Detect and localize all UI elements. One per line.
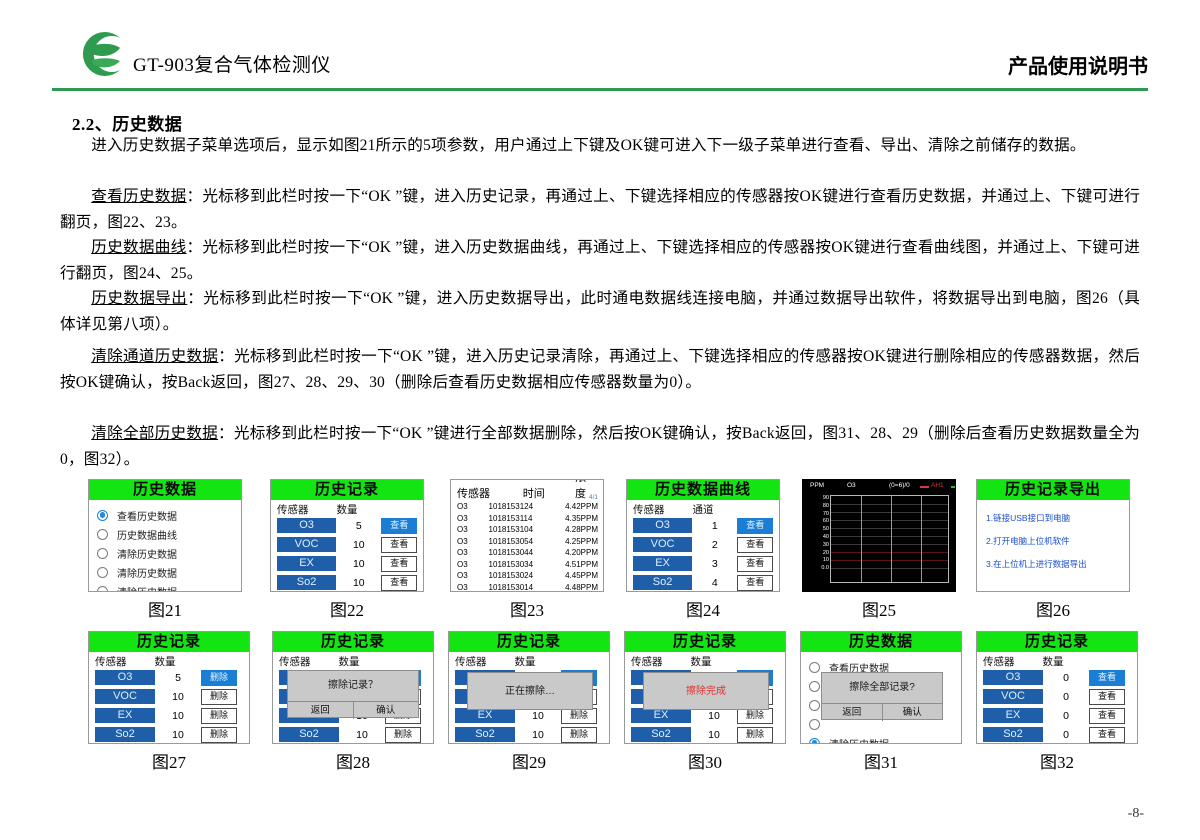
confirm-button[interactable]: 确认 (353, 702, 419, 719)
column-header-sensor: 传感器 (277, 502, 325, 517)
page-indicator: 4/1 (589, 494, 598, 501)
log-sensor: O3 (457, 560, 489, 569)
log-row: O310181530144.48PPM (457, 582, 598, 593)
chart-y-axis: 90 80 70 60 50 40 30 20 10 0.0 (807, 495, 829, 573)
sensor-channel-table: 传感器 通道 O3 1 查看 VOC 2 查看 EX 3 查看 (627, 500, 779, 591)
column-header-sensor: 传感器 (95, 654, 143, 669)
menu-item-label: 查看历史数据 (117, 508, 177, 523)
log-sensor: O3 (457, 502, 489, 511)
menu-item-clear-3[interactable]: 清除历史数据 (809, 734, 961, 744)
device-screen-history-curve: 历史数据曲线 传感器 通道 O3 1 查看 VOC 2 查看 EX (626, 479, 780, 592)
sensor-channel: 4 (692, 577, 737, 589)
log-conc: 4.20PPM (555, 548, 598, 557)
log-time: 1018153104 (489, 525, 556, 534)
dialog-message: 擦除全部记录? (822, 673, 942, 703)
column-header-sensor: 传感器 (457, 485, 503, 501)
sensor-name: EX (633, 556, 692, 571)
column-header-sensor: 传感器 (631, 654, 679, 669)
sensor-name: VOC (983, 689, 1043, 704)
device-screen-history-data: 历史数据 查看历史数据 历史数据曲线 清除历史数据 清除历史数据 (88, 479, 242, 592)
figure-21: 历史数据 查看历史数据 历史数据曲线 清除历史数据 清除历史数据 (88, 479, 242, 621)
device-screen-erase-done: 历史记录 传感器 数量 O35删除 VOC10删除 EX10删除 So210删除… (624, 631, 786, 744)
sensor-name: VOC (633, 537, 692, 552)
y-tick: 30 (807, 542, 829, 550)
paragraph-intro: 进入历史数据子菜单选项后，显示如图21所示的5项参数，用户通过上下键及OK键可进… (60, 133, 1140, 159)
export-steps: 1.链接USB接口到电脑 2.打开电脑上位机软件 3.在上位机上进行数据导出 (977, 500, 1129, 570)
delete-button[interactable]: 删除 (385, 727, 421, 743)
radio-icon[interactable] (97, 586, 108, 593)
view-button[interactable]: 查看 (381, 575, 417, 591)
device-screen-history-record: 历史记录 传感器 数量 O3 5 查看 VOC 10 查看 EX (270, 479, 424, 592)
figure-caption: 图23 (450, 596, 604, 621)
view-button[interactable]: 查看 (1089, 708, 1125, 724)
table-row[interactable]: VOC 2 查看 (633, 536, 773, 553)
screen-title: 历史记录 (977, 632, 1137, 652)
column-header-qty: 数量 (503, 654, 547, 669)
table-row[interactable]: O30查看 (983, 669, 1131, 686)
sensor-name: VOC (277, 537, 336, 552)
log-conc: 4.45PPM (555, 571, 598, 580)
menu-item-clear-2[interactable]: 清除历史数据 (97, 563, 241, 581)
sensor-name: VOC (95, 689, 155, 704)
table-header: 传感器 数量 (631, 654, 779, 669)
export-step: 1.链接USB接口到电脑 (986, 512, 1120, 524)
table-row[interactable]: VOC 10 删除 (95, 688, 243, 705)
chart-plot-area (830, 495, 949, 583)
y-tick: 20 (807, 550, 829, 558)
screen-title: 历史记录 (89, 632, 249, 652)
device-screen-export: 历史记录导出 1.链接USB接口到电脑 2.打开电脑上位机软件 3.在上位机上进… (976, 479, 1130, 592)
figure-caption: 图25 (802, 596, 956, 621)
paragraph-view-history: 查看历史数据：光标移到此栏时按一下“OK ”键，进入历史记录，再通过上、下键选择… (60, 184, 1140, 235)
brand-title: GT-903复合气体检测仪 (133, 50, 331, 77)
table-row[interactable]: So210删除 (279, 726, 427, 743)
column-header-sensor: 传感器 (633, 502, 681, 517)
log-time: 1018153014 (489, 583, 556, 592)
sensor-qty: 0 (1043, 672, 1089, 684)
log-sensor: O3 (457, 514, 489, 523)
menu-item-label: 历史数据曲线 (117, 527, 177, 542)
leaf-c-logo-icon (72, 30, 124, 78)
radio-icon[interactable] (97, 567, 108, 578)
sensor-name: O3 (95, 670, 155, 685)
figure-caption: 图22 (270, 596, 424, 621)
sensor-qty: 10 (336, 558, 381, 570)
menu-item-label: 清除历史数据 (117, 546, 177, 561)
radio-icon[interactable] (809, 738, 820, 745)
sensor-name: O3 (633, 518, 692, 533)
log-time: 1018153124 (489, 502, 556, 511)
figure-29: 历史记录 传感器 数量 O35删除 VOC10删除 EX10删除 So210删除… (448, 631, 610, 773)
screen-title: 历史记录导出 (977, 480, 1129, 500)
screen-title: 历史记录 (625, 632, 785, 652)
column-header-qty: 数量 (325, 502, 369, 517)
column-header-qty: 数量 (1031, 654, 1075, 669)
view-button[interactable]: 查看 (381, 556, 417, 572)
figure-25: PPM O3 (0=6)/0 AH1 AH2 90 80 70 60 50 40… (802, 479, 956, 621)
chart-range-label: (0=6)/0 (889, 482, 910, 489)
figure-31: 历史数据 查看历史数据 (800, 631, 962, 773)
page-number: -8- (1128, 806, 1144, 822)
table-row[interactable]: O3 5 删除 (95, 669, 243, 686)
dialog-message: 擦除完成 (644, 673, 768, 711)
log-header: 传感器 时间 浓度 4/1 (457, 484, 598, 501)
radio-icon[interactable] (97, 510, 108, 521)
table-row[interactable]: So20查看 (983, 726, 1131, 743)
sensor-qty: 10 (691, 710, 737, 722)
log-row: O310181530244.45PPM (457, 570, 598, 582)
chart-unit-label: PPM (810, 482, 824, 489)
menu-item-label: 清除历史数据 (829, 736, 889, 745)
sensor-qty: 10 (155, 710, 201, 722)
sensor-table: 传感器 数量 O30查看 VOC0查看 EX0查看 So20查看 (977, 652, 1137, 743)
figure-30: 历史记录 传感器 数量 O35删除 VOC10删除 EX10删除 So210删除… (624, 631, 786, 773)
sensor-qty: 10 (336, 539, 381, 551)
sensor-qty: 0 (1043, 691, 1089, 703)
y-tick: 90 (807, 495, 829, 503)
table-row[interactable]: So210删除 (455, 726, 603, 743)
log-row: O310181531244.42PPM (457, 501, 598, 513)
log-time: 1018153114 (489, 514, 556, 523)
sensor-name: So2 (279, 727, 339, 742)
radio-icon[interactable] (97, 548, 108, 559)
delete-button[interactable]: 删除 (201, 727, 237, 743)
log-sensor: O3 (457, 537, 489, 546)
sensor-channel: 2 (692, 539, 737, 551)
sensor-qty: 10 (515, 710, 561, 722)
figure-caption: 图27 (88, 748, 250, 773)
page-header: GT-903复合气体检测仪 产品使用说明书 (0, 0, 1200, 92)
paragraph-history-export: 历史数据导出：光标移到此栏时按一下“OK ”键，进入历史数据导出，此时通电数据线… (60, 286, 1140, 337)
sensor-qty: 5 (155, 672, 201, 684)
export-step: 3.在上位机上进行数据导出 (986, 558, 1120, 570)
y-tick: 60 (807, 518, 829, 526)
column-header-qty: 数量 (327, 654, 371, 669)
view-button[interactable]: 查看 (381, 518, 417, 534)
figure-24: 历史数据曲线 传感器 通道 O3 1 查看 VOC 2 查看 EX (626, 479, 780, 621)
screen-title: 历史记录 (273, 632, 433, 652)
table-row[interactable]: O3 5 查看 (277, 517, 417, 534)
delete-button[interactable]: 删除 (737, 727, 773, 743)
sensor-table: 传感器 数量 O3 5 删除 VOC 10 删除 EX 10 删除 (89, 652, 249, 743)
erasing-progress-dialog: 正在擦除… (467, 672, 593, 710)
back-button[interactable]: 返回 (288, 702, 353, 719)
table-row[interactable]: EX 3 查看 (633, 555, 773, 572)
header-divider (52, 88, 1148, 91)
view-button[interactable]: 查看 (737, 537, 773, 553)
device-screen-clear-all-confirm: 历史数据 查看历史数据 (800, 631, 962, 744)
radio-icon[interactable] (809, 719, 820, 730)
sensor-name: O3 (277, 518, 336, 533)
log-sensor: O3 (457, 583, 489, 592)
log-conc: 4.42PPM (555, 502, 598, 511)
sensor-name: EX (277, 556, 336, 571)
table-header: 传感器 数量 (983, 654, 1131, 669)
confirm-button[interactable]: 确认 (882, 704, 943, 721)
log-time: 1018153024 (489, 571, 556, 580)
log-conc: 4.25PPM (555, 537, 598, 546)
table-row[interactable]: So210删除 (631, 726, 779, 743)
manual-page: GT-903复合气体检测仪 产品使用说明书 2.2、历史数据 进入历史数据子菜单… (0, 0, 1200, 840)
log-sensor: O3 (457, 571, 489, 580)
table-header: 传感器 数量 (279, 654, 427, 669)
chart-header: PPM O3 (0=6)/0 AH1 AH2 (803, 482, 955, 493)
paragraph-history-curve: 历史数据曲线：光标移到此栏时按一下“OK ”键，进入历史数据曲线，再通过上、下键… (60, 235, 1140, 286)
radio-icon[interactable] (809, 662, 820, 673)
erase-complete-dialog: 擦除完成 (643, 672, 769, 710)
figure-32: 历史记录 传感器 数量 O30查看 VOC0查看 EX0查看 So20查看 图3… (976, 631, 1138, 773)
log-conc: 4.35PPM (555, 514, 598, 523)
figure-caption: 图29 (448, 748, 610, 773)
log-conc: 4.51PPM (555, 560, 598, 569)
log-row: O310181530544.25PPM (457, 536, 598, 548)
view-button[interactable]: 查看 (381, 537, 417, 553)
y-tick: 80 (807, 503, 829, 511)
record-log: 传感器 时间 浓度 4/1 O310181531244.42PPM O31018… (451, 480, 603, 592)
table-header: 传感器 数量 (277, 502, 417, 517)
menu-item-clear-3[interactable]: 清除历史数据 (97, 582, 241, 592)
log-time: 1018153044 (489, 548, 556, 557)
sensor-qty: 10 (155, 691, 201, 703)
sensor-name: So2 (277, 575, 336, 590)
table-row[interactable]: EX 10 查看 (277, 555, 417, 572)
column-header-sensor: 传感器 (279, 654, 327, 669)
y-tick: 10 (807, 557, 829, 565)
log-row: O310181531044.28PPM (457, 524, 598, 536)
menu-item-history-curve[interactable]: 历史数据曲线 (97, 525, 241, 543)
dialog-message: 正在擦除… (468, 673, 592, 711)
delete-button[interactable]: 删除 (561, 727, 597, 743)
table-row[interactable]: EX0查看 (983, 707, 1131, 724)
radio-icon[interactable] (809, 681, 820, 692)
dialog-buttons: 返回 确认 (822, 703, 942, 721)
table-row[interactable]: So2 10 查看 (277, 574, 417, 591)
log-row: O310181530344.51PPM (457, 559, 598, 571)
table-row[interactable]: VOC 10 查看 (277, 536, 417, 553)
table-header: 传感器 数量 (455, 654, 603, 669)
screen-title: 历史记录 (271, 480, 423, 500)
column-header-concentration: 浓度 (565, 479, 586, 501)
y-tick: 70 (807, 511, 829, 519)
figure-caption: 图30 (624, 748, 786, 773)
sensor-name: EX (95, 708, 155, 723)
view-button[interactable]: 查看 (737, 556, 773, 572)
menu-item-clear-1[interactable]: 清除历史数据 (97, 544, 241, 562)
back-button[interactable]: 返回 (822, 704, 882, 721)
figure-23: 传感器 时间 浓度 4/1 O310181531244.42PPM O31018… (450, 479, 604, 621)
paragraph-clear-channel: 清除通道历史数据：光标移到此栏时按一下“OK ”键，进入历史记录清除，再通过上、… (60, 344, 1140, 395)
chart-gas-label: O3 (847, 482, 856, 489)
log-time: 1018153034 (489, 560, 556, 569)
view-button[interactable]: 查看 (737, 518, 773, 534)
device-screen-record-list: 传感器 时间 浓度 4/1 O310181531244.42PPM O31018… (450, 479, 604, 592)
device-screen-erase-confirm: 历史记录 传感器 数量 O35删除 VOC10删除 EX10删除 So210删除… (272, 631, 434, 744)
screen-title: 历史数据曲线 (627, 480, 779, 500)
column-header-qty: 数量 (679, 654, 723, 669)
column-header-qty: 数量 (143, 654, 187, 669)
sensor-qty: 10 (691, 729, 737, 741)
view-button[interactable]: 查看 (1089, 689, 1125, 705)
sensor-qty: 5 (336, 520, 381, 532)
radio-icon[interactable] (809, 700, 820, 711)
column-header-sensor: 传感器 (455, 654, 503, 669)
figure-22: 历史记录 传感器 数量 O3 5 查看 VOC 10 查看 EX (270, 479, 424, 621)
table-row[interactable]: EX 10 删除 (95, 707, 243, 724)
figure-27: 历史记录 传感器 数量 O3 5 删除 VOC 10 删除 EX (88, 631, 250, 773)
device-screen-delete-list: 历史记录 传感器 数量 O3 5 删除 VOC 10 删除 EX (88, 631, 250, 744)
figure-caption: 图24 (626, 596, 780, 621)
section-title: 2.2、历史数据 (72, 110, 182, 135)
menu-item-label: 清除历史数据 (117, 584, 177, 593)
sensor-name: O3 (983, 670, 1043, 685)
y-tick: 40 (807, 534, 829, 542)
sensor-name: So2 (633, 575, 692, 590)
y-tick: 50 (807, 526, 829, 534)
sensor-channel: 1 (692, 520, 737, 532)
delete-button[interactable]: 删除 (201, 670, 237, 686)
figure-caption: 图32 (976, 748, 1138, 773)
sensor-table: 传感器 数量 O3 5 查看 VOC 10 查看 EX 10 查看 (271, 500, 423, 591)
figure-caption: 图28 (272, 748, 434, 773)
view-button[interactable]: 查看 (737, 575, 773, 591)
radio-icon[interactable] (97, 529, 108, 540)
log-row: O310181530444.20PPM (457, 547, 598, 559)
log-time: 1018153054 (489, 537, 556, 546)
screen-title: 历史记录 (449, 632, 609, 652)
log-row: O310181531144.35PPM (457, 513, 598, 525)
history-menu-list: 查看历史数据 历史数据曲线 清除历史数据 清除历史数据 清除历史数据 (89, 500, 241, 592)
delete-button[interactable]: 删除 (201, 708, 237, 724)
legend-ah1: AH1 (931, 482, 944, 489)
sensor-qty: 10 (515, 729, 561, 741)
column-header-sensor: 传感器 (983, 654, 1031, 669)
menu-item-view-history[interactable]: 查看历史数据 (97, 506, 241, 524)
table-header: 传感器 通道 (633, 502, 773, 517)
sensor-qty: 10 (336, 577, 381, 589)
device-screen-history-cleared: 历史记录 传感器 数量 O30查看 VOC0查看 EX0查看 So20查看 (976, 631, 1138, 744)
erase-confirm-dialog: 擦除记录？ 返回 确认 (287, 670, 419, 718)
figure-caption: 图21 (88, 596, 242, 621)
sensor-name: So2 (983, 727, 1043, 742)
sensor-qty: 10 (155, 729, 201, 741)
device-screen-erasing: 历史记录 传感器 数量 O35删除 VOC10删除 EX10删除 So210删除… (448, 631, 610, 744)
sensor-qty: 0 (1043, 710, 1089, 722)
table-row[interactable]: So2 10 删除 (95, 726, 243, 743)
figure-caption: 图26 (976, 596, 1130, 621)
sensor-name: So2 (95, 727, 155, 742)
screen-title: 历史数据 (89, 480, 241, 500)
clear-all-confirm-dialog: 擦除全部记录? 返回 确认 (821, 672, 943, 720)
sensor-name: So2 (631, 727, 691, 742)
log-sensor: O3 (457, 548, 489, 557)
view-button[interactable]: 查看 (1089, 727, 1125, 743)
figure-26: 历史记录导出 1.链接USB接口到电脑 2.打开电脑上位机软件 3.在上位机上进… (976, 479, 1130, 621)
table-row[interactable]: So2 4 查看 (633, 574, 773, 591)
dialog-buttons: 返回 确认 (288, 701, 418, 719)
sensor-channel: 3 (692, 558, 737, 570)
log-conc: 4.48PPM (555, 583, 598, 592)
menu-item-label: 清除历史数据 (117, 565, 177, 580)
header-doc-title: 产品使用说明书 (1008, 50, 1148, 79)
figure-caption: 图31 (800, 748, 962, 773)
dialog-message: 擦除记录？ (288, 671, 418, 701)
export-step: 2.打开电脑上位机软件 (986, 535, 1120, 547)
log-sensor: O3 (457, 525, 489, 534)
view-button[interactable]: 查看 (1089, 670, 1125, 686)
screen-title: 历史数据 (801, 632, 961, 652)
sensor-qty: 10 (339, 729, 385, 741)
sensor-name: EX (983, 708, 1043, 723)
table-header: 传感器 数量 (95, 654, 243, 669)
device-screen-curve-chart: PPM O3 (0=6)/0 AH1 AH2 90 80 70 60 50 40… (802, 479, 956, 592)
sensor-name: So2 (455, 727, 515, 742)
delete-button[interactable]: 删除 (201, 689, 237, 705)
sensor-qty: 0 (1043, 729, 1089, 741)
table-row[interactable]: VOC0查看 (983, 688, 1131, 705)
column-header-time: 时间 (503, 485, 566, 501)
y-tick: 0.0 (807, 565, 829, 573)
table-row[interactable]: O3 1 查看 (633, 517, 773, 534)
column-header-channel: 通道 (681, 502, 725, 517)
curve-chart: PPM O3 (0=6)/0 AH1 AH2 90 80 70 60 50 40… (803, 480, 955, 591)
figure-28: 历史记录 传感器 数量 O35删除 VOC10删除 EX10删除 So210删除… (272, 631, 434, 773)
log-conc: 4.28PPM (555, 525, 598, 534)
paragraph-clear-all: 清除全部历史数据：光标移到此栏时按一下“OK ”键进行全部数据删除，然后按OK键… (60, 421, 1140, 472)
